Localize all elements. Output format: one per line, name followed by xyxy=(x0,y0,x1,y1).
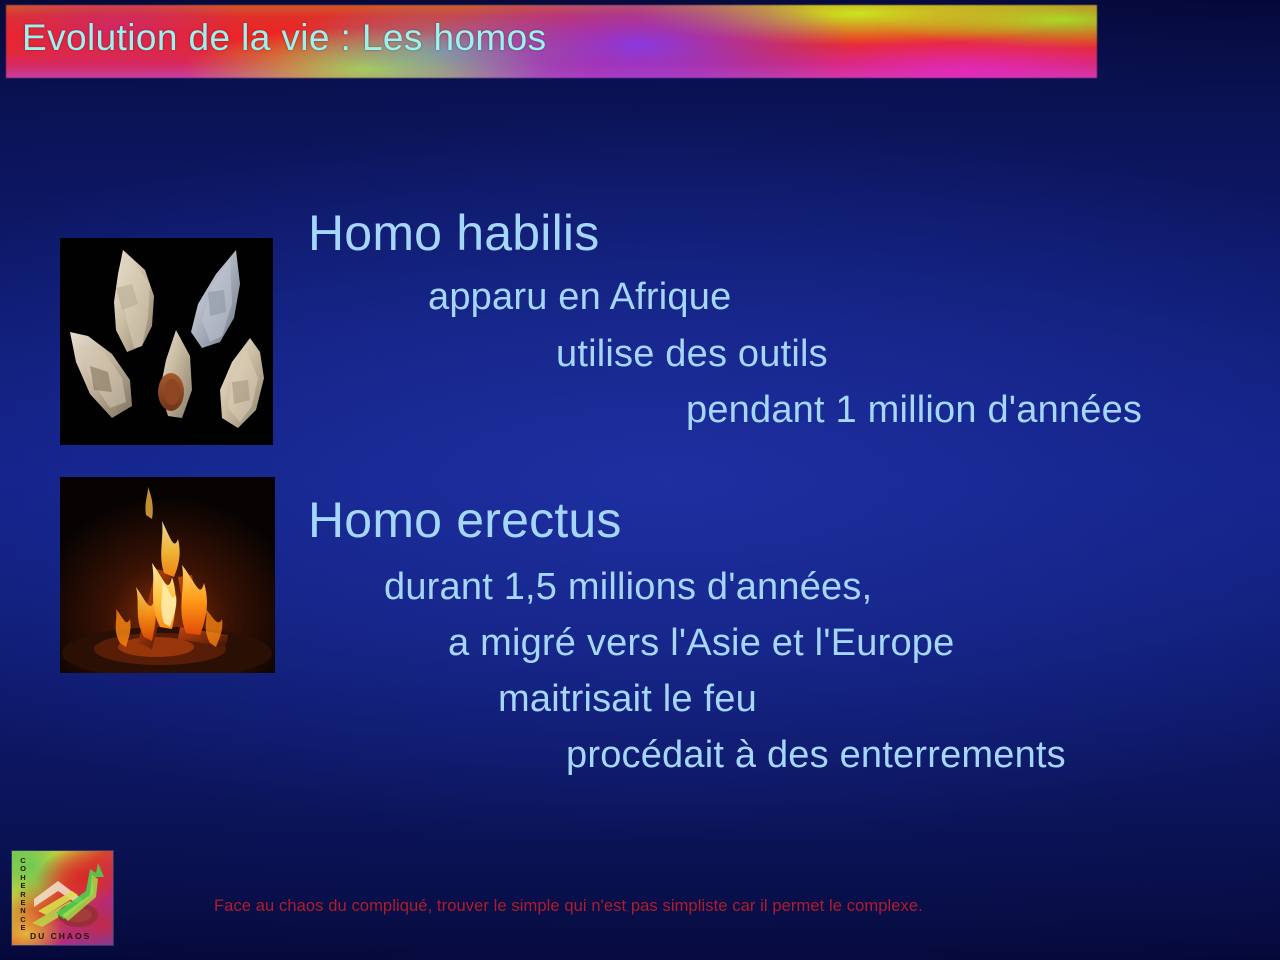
erectus-line-4: procédait à des enterrements xyxy=(566,733,1066,777)
section-heading-homo-erectus: Homo erectus xyxy=(308,492,622,548)
erectus-line-2: a migré vers l'Asie et l'Europe xyxy=(448,621,954,665)
logo-vertical-text: COHERENCE xyxy=(17,857,29,933)
stone-tools-photo xyxy=(60,238,273,445)
campfire-illustration xyxy=(60,477,275,673)
logo-bottom-text: DU CHAOS xyxy=(30,931,91,941)
stone-tools-illustration xyxy=(60,238,273,445)
habilis-line-2: utilise des outils xyxy=(556,332,828,376)
presentation-slide: Evolution de la vie : Les homos xyxy=(0,0,1280,960)
habilis-line-1: apparu en Afrique xyxy=(428,275,731,319)
section-heading-homo-habilis: Homo habilis xyxy=(308,205,599,261)
habilis-line-3: pendant 1 million d'années xyxy=(686,388,1142,432)
coherence-du-chaos-logo: COHERENCE DU CHAOS xyxy=(11,850,114,946)
slide-title: Evolution de la vie : Les homos xyxy=(22,16,547,60)
erectus-line-1: durant 1,5 millions d'années, xyxy=(384,565,872,609)
footer-tagline: Face au chaos du compliqué, trouver le s… xyxy=(214,896,923,916)
erectus-line-3: maitrisait le feu xyxy=(498,677,757,721)
campfire-photo xyxy=(60,477,275,673)
